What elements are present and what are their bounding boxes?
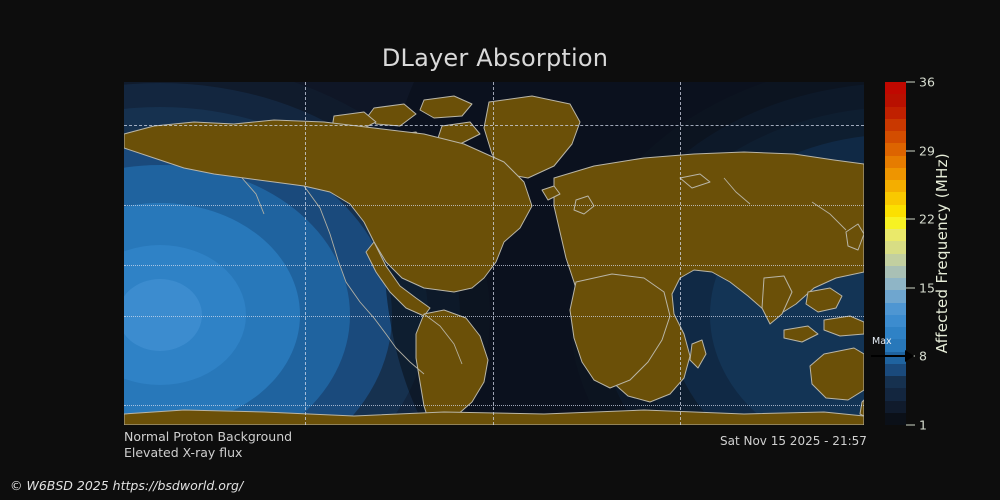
colorbar-tick-dash bbox=[906, 219, 915, 220]
colorbar-segment bbox=[885, 339, 906, 351]
colorbar-tick-dash bbox=[906, 356, 915, 357]
colorbar-segment bbox=[885, 278, 906, 290]
colorbar-segment bbox=[885, 192, 906, 204]
dlayer-absorption-page: DLayer Absorption bbox=[0, 0, 1000, 500]
colorbar[interactable] bbox=[885, 82, 906, 425]
footer-credit: © W6BSD 2025 https://bsdworld.org/ bbox=[10, 478, 243, 493]
colorbar-axis-label: Affected Frequency (MHz) bbox=[930, 82, 954, 425]
colorbar-segment bbox=[885, 254, 906, 266]
colorbar-segment bbox=[885, 229, 906, 241]
colorbar-segment bbox=[885, 107, 906, 119]
colorbar-tick-dash bbox=[906, 287, 915, 288]
colorbar-tick-dash bbox=[906, 82, 915, 83]
colorbar-segment bbox=[885, 119, 906, 131]
colorbar-segment bbox=[885, 413, 906, 425]
colorbar-tick: 1 bbox=[906, 418, 927, 433]
colorbar-segment bbox=[885, 82, 906, 94]
colorbar-tick-dash bbox=[906, 150, 915, 151]
colorbar-segment bbox=[885, 217, 906, 229]
colorbar-tick-label: 8 bbox=[919, 349, 927, 364]
colorbar-segment bbox=[885, 131, 906, 143]
annotation-proton-background: Normal Proton Background bbox=[124, 429, 292, 444]
page-title: DLayer Absorption bbox=[0, 44, 990, 72]
colorbar-segment bbox=[885, 352, 906, 364]
colorbar-segment bbox=[885, 388, 906, 400]
colorbar-segment bbox=[885, 205, 906, 217]
colorbar-tick-dash bbox=[906, 425, 915, 426]
colorbar-segment bbox=[885, 315, 906, 327]
colorbar-segment bbox=[885, 303, 906, 315]
world-absorption-map[interactable] bbox=[124, 82, 864, 425]
colorbar-segment bbox=[885, 156, 906, 168]
colorbar-segment bbox=[885, 241, 906, 253]
colorbar-segment bbox=[885, 266, 906, 278]
map-canvas bbox=[124, 82, 864, 425]
colorbar-segment bbox=[885, 364, 906, 376]
timestamp: Sat Nov 15 2025 - 21:57 bbox=[720, 434, 867, 448]
colorbar-segment bbox=[885, 143, 906, 155]
colorbar-tick-label: 1 bbox=[919, 418, 927, 433]
annotation-xray-flux: Elevated X-ray flux bbox=[124, 445, 242, 460]
colorbar-axis-label-text: Affected Frequency (MHz) bbox=[933, 153, 951, 353]
colorbar-segment bbox=[885, 327, 906, 339]
colorbar-tick: 8 bbox=[906, 349, 927, 364]
colorbar-segment bbox=[885, 168, 906, 180]
colorbar-segment bbox=[885, 401, 906, 413]
colorbar-segment bbox=[885, 94, 906, 106]
colorbar-segment bbox=[885, 290, 906, 302]
colorbar-segment bbox=[885, 376, 906, 388]
colorbar-segment bbox=[885, 180, 906, 192]
